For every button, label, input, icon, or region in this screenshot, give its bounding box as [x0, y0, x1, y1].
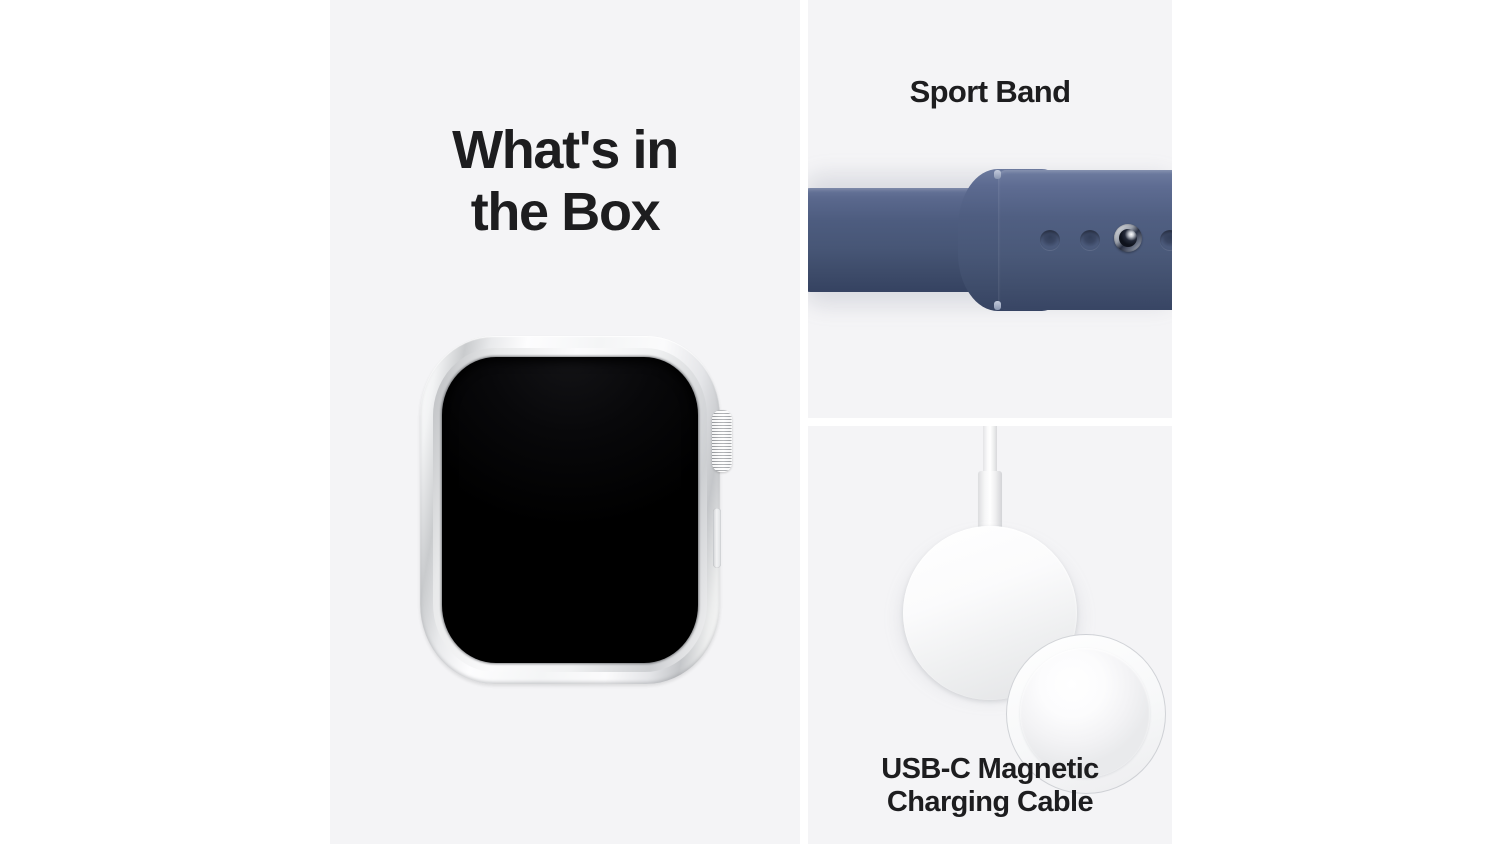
watch-aluminium-case — [420, 336, 720, 684]
sport-band-product-image — [808, 152, 1172, 327]
watch-display — [442, 357, 698, 663]
band-keeper-loop-top — [994, 170, 1001, 179]
magnetic-charging-puck — [903, 526, 1077, 700]
band-hole — [1080, 230, 1100, 250]
charging-cable-title: USB-C Magnetic Charging Cable — [808, 753, 1172, 820]
panel-charging-cable: USB-C Magnetic Charging Cable — [808, 426, 1172, 844]
sport-band-title: Sport Band — [808, 74, 1172, 110]
charging-cable-product-image — [808, 426, 1172, 726]
product-image-canvas: What's in the Box Sport Band — [0, 0, 1500, 844]
apple-watch-product-image — [420, 336, 720, 688]
panel-sport-band: Sport Band — [808, 0, 1172, 418]
panel-whats-in-the-box: What's in the Box — [330, 0, 800, 844]
side-button — [713, 508, 721, 568]
band-keeper-loop-bottom — [994, 301, 1001, 310]
band-hole — [1040, 230, 1060, 250]
page-title: What's in the Box — [330, 120, 800, 243]
digital-crown-icon — [712, 410, 732, 472]
cable-strain-relief — [978, 471, 1002, 529]
band-pin-hole — [1114, 224, 1142, 252]
